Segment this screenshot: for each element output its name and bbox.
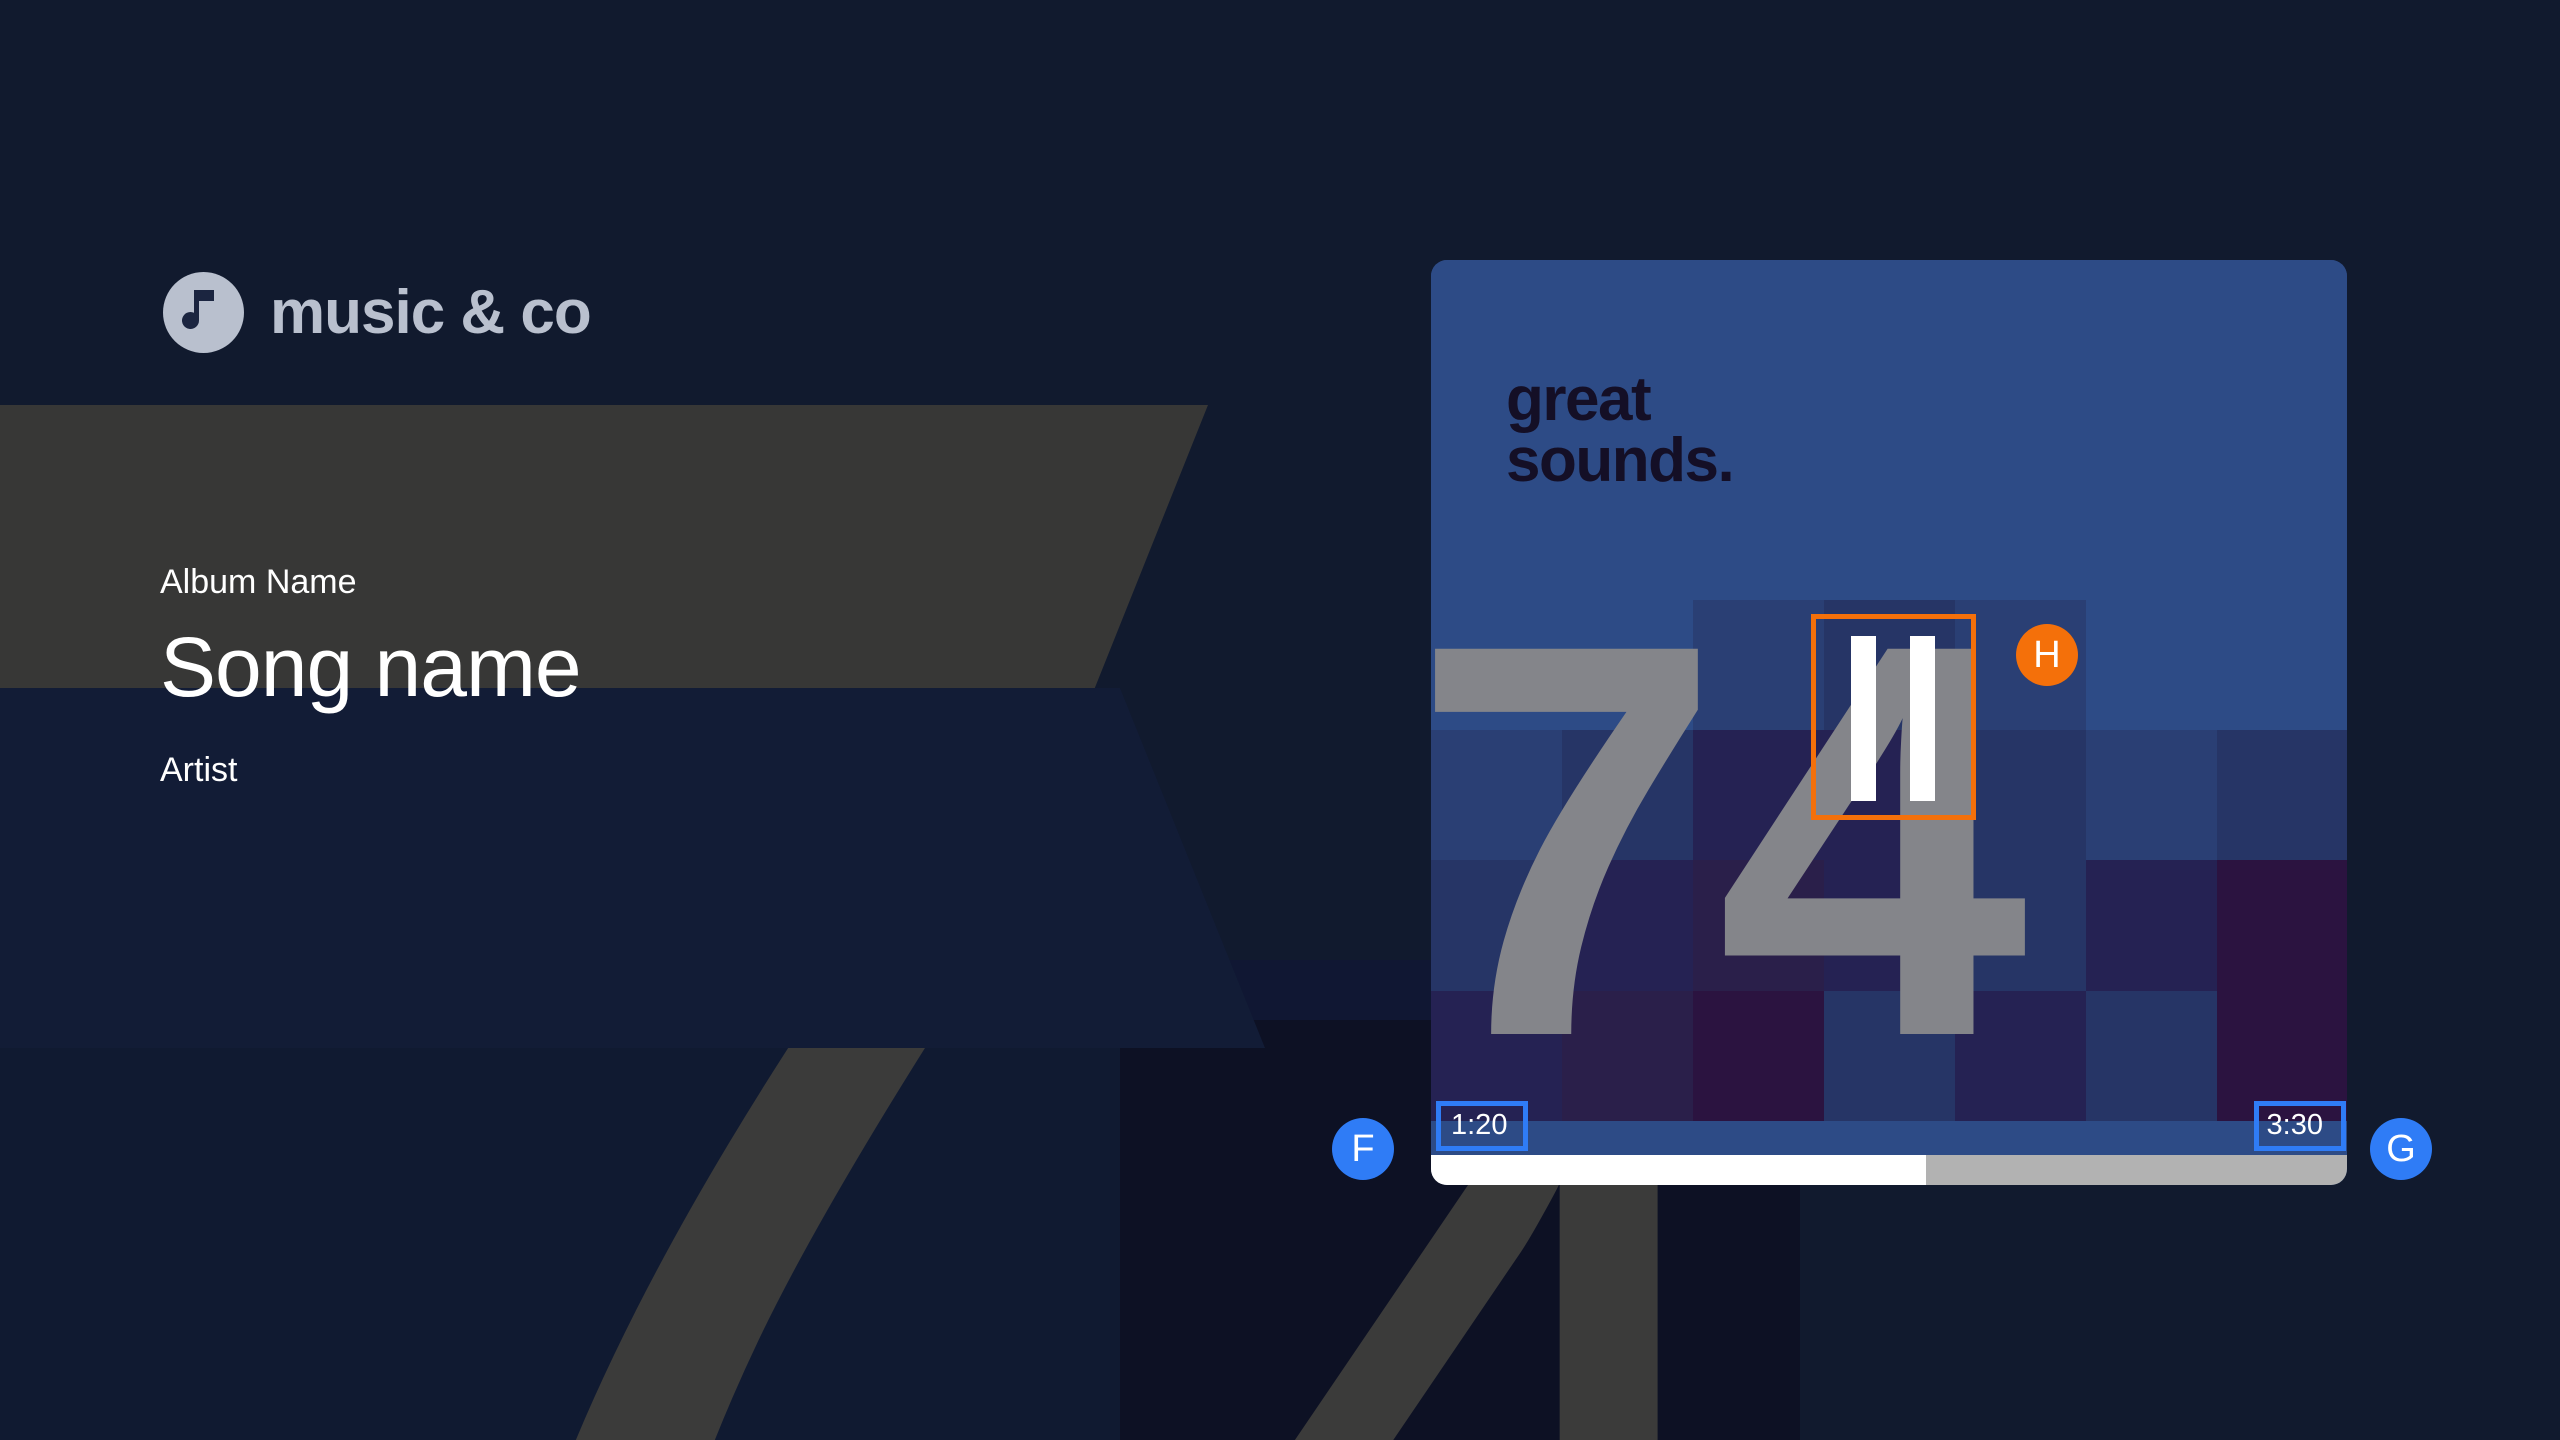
elapsed-time-label: 1:20 <box>1441 1104 1517 1147</box>
player-screen: 7 4 music & co Album Name Song name Arti… <box>0 0 2560 1440</box>
total-time-label: 3:30 <box>2257 1104 2333 1147</box>
brand-logo[interactable]: music & co <box>163 272 591 353</box>
track-info: Album Name Song name Artist <box>160 565 581 787</box>
accent-band-diagonal <box>1120 688 1265 1048</box>
annotation-badge-G: G <box>2370 1118 2432 1180</box>
album-art-headline: great sounds. <box>1506 370 1733 492</box>
annotation-badge-F-label: F <box>1351 1128 1374 1171</box>
artist-label: Artist <box>160 753 581 787</box>
annotation-badge-H: H <box>2016 624 2078 686</box>
info-panel-diagonal <box>1088 405 1208 705</box>
pause-icon-bar-right <box>1910 636 1935 801</box>
album-name-label: Album Name <box>160 565 581 599</box>
annotation-badge-H-label: H <box>2033 634 2060 677</box>
brand-name: music & co <box>270 277 591 348</box>
music-note-icon <box>163 272 244 353</box>
pause-button[interactable] <box>1813 618 1973 818</box>
annotation-badge-F: F <box>1332 1118 1394 1180</box>
progress-bar[interactable] <box>1431 1155 2347 1185</box>
song-title: Song name <box>160 625 581 709</box>
bg-tone-block-1 <box>0 1000 1120 1440</box>
album-art-card[interactable]: great sounds. <box>1431 260 2347 1185</box>
pause-icon-bar-left <box>1851 636 1876 801</box>
progress-bar-fill <box>1431 1155 1926 1185</box>
annotation-badge-G-label: G <box>2386 1128 2416 1171</box>
